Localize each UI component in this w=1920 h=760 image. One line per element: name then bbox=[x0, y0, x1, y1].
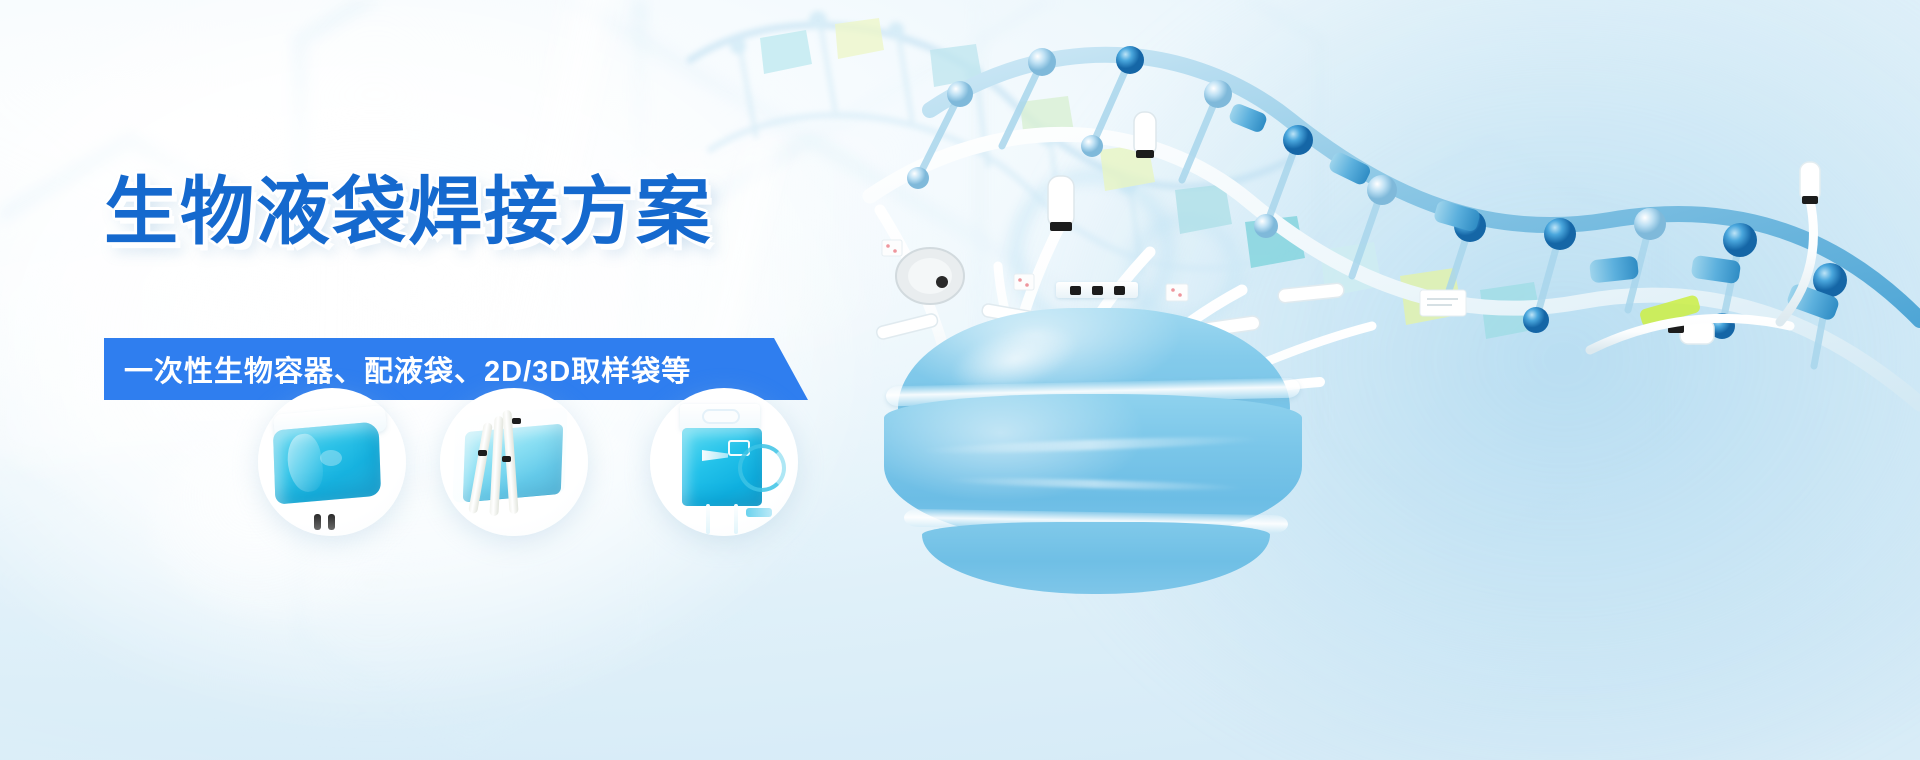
hero-banner: 生物液袋焊接方案 一次性生物容器、配液袋、2D/3D取样袋等 bbox=[0, 0, 1920, 760]
bag-port-clip bbox=[314, 514, 321, 530]
bag-tube-clamp bbox=[502, 456, 511, 462]
page-title: 生物液袋焊接方案 bbox=[104, 172, 712, 252]
product-circle-hanging-bag[interactable] bbox=[650, 388, 798, 536]
product-photo-cube-bag bbox=[440, 388, 588, 536]
bag-embossed-logo bbox=[320, 450, 342, 466]
bag-handle-cutout bbox=[702, 409, 740, 424]
bag-drip-connector bbox=[746, 508, 772, 517]
bag-tube-clamp bbox=[512, 418, 521, 424]
large-bioreactor-bag bbox=[880, 290, 1310, 600]
bag-drip-line bbox=[706, 504, 710, 534]
product-photo-pillow-bag bbox=[258, 388, 406, 536]
product-circle-cube-bag[interactable] bbox=[440, 388, 588, 536]
tubing-id-tag bbox=[1420, 290, 1466, 316]
bag-tube-coil bbox=[738, 444, 786, 492]
bag-port-clip bbox=[1114, 286, 1125, 295]
bag-bottom-lobe bbox=[922, 522, 1270, 594]
bag-port-clip bbox=[1092, 286, 1103, 295]
bag-tube-clamp bbox=[478, 450, 487, 456]
subtitle-text: 一次性生物容器、配液袋、2D/3D取样袋等 bbox=[124, 348, 691, 390]
bag-port-clip bbox=[1070, 286, 1081, 295]
headline-block: 生物液袋焊接方案 bbox=[104, 172, 712, 252]
product-photo-hanging-bag bbox=[650, 388, 798, 536]
bag-drip-line bbox=[734, 504, 738, 534]
product-circle-pillow-bag[interactable] bbox=[258, 388, 406, 536]
bag-port-clip bbox=[328, 514, 335, 530]
